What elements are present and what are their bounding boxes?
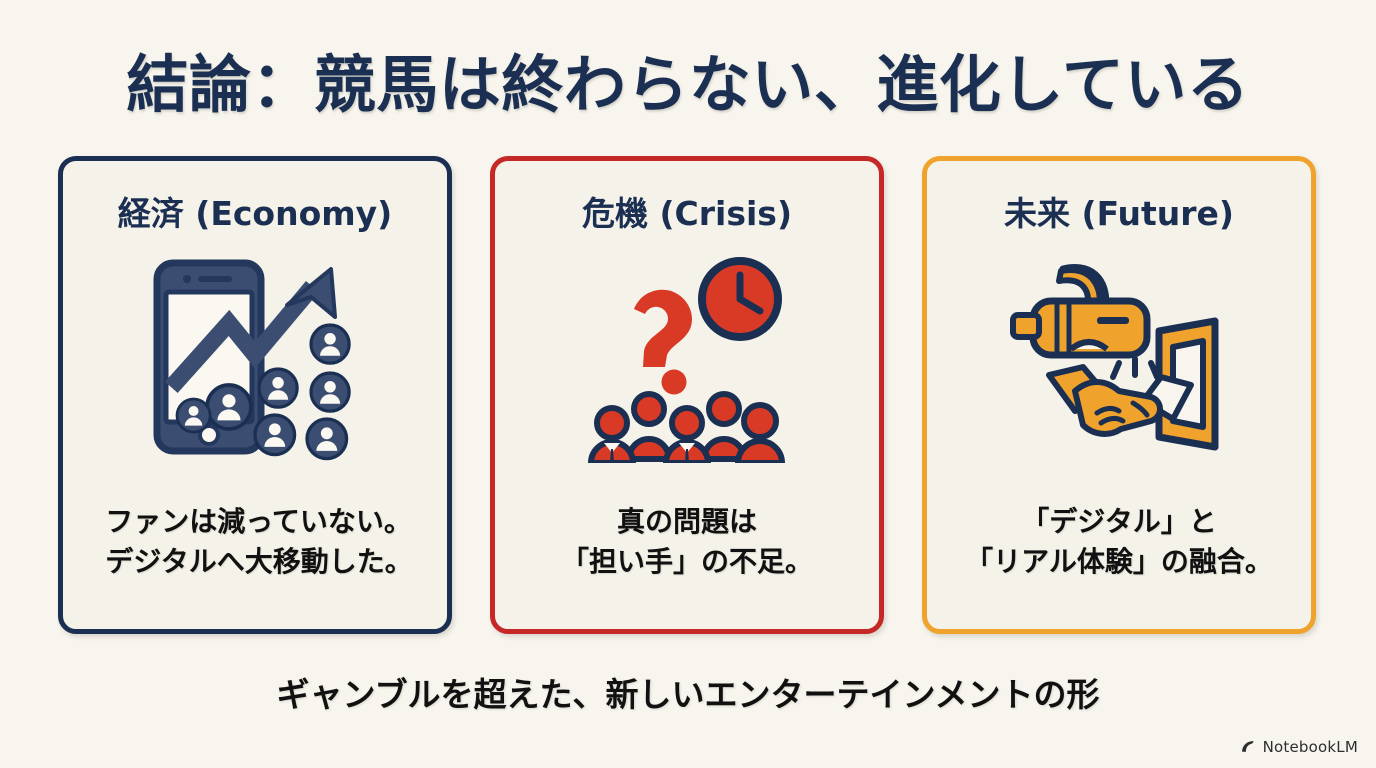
notebooklm-spiral-icon [1240, 739, 1257, 756]
question-mark-clock-crowd-icon [572, 249, 802, 465]
card-economy-body: ファンは減っていない。 デジタルへ大移動した。 [87, 502, 422, 583]
watermark: NotebookLM [1240, 738, 1358, 756]
page-title: 結論：競馬は終わらない、進化している [0, 34, 1376, 124]
card-future-title: 未来 (Future) [1004, 187, 1234, 235]
card-future[interactable]: 未来 (Future) [922, 156, 1316, 634]
vr-headset-handshake-portal-icon [1001, 249, 1237, 465]
card-crisis[interactable]: 危機 (Crisis) [490, 156, 884, 634]
slide-canvas: 結論：競馬は終わらない、進化している 経済 (Economy) [0, 0, 1376, 768]
card-economy-title: 経済 (Economy) [118, 187, 393, 235]
card-crisis-title: 危機 (Crisis) [582, 187, 792, 235]
card-economy[interactable]: 経済 (Economy) [58, 156, 452, 634]
smartphone-growth-chart-audience-icon [135, 249, 375, 465]
card-crisis-body: 真の問題は 「担い手」の不足。 [551, 502, 823, 583]
footer-tagline: ギャンブルを超えた、新しいエンターテインメントの形 [0, 668, 1376, 716]
cards-row: 経済 (Economy) [58, 156, 1316, 634]
card-future-body: 「デジタル」と 「リアル体験」の融合。 [955, 502, 1283, 583]
watermark-label: NotebookLM [1263, 738, 1358, 756]
